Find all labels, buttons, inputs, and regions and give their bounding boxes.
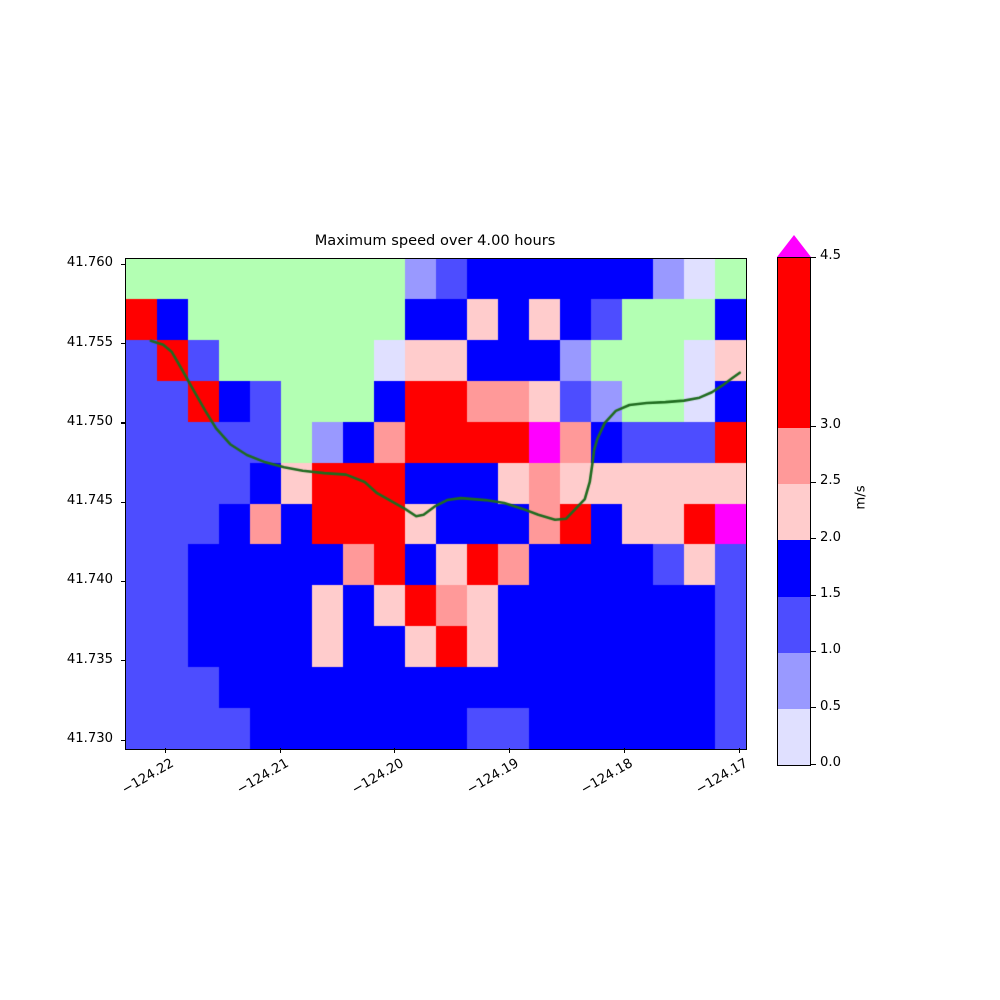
colorbar-tick-label: 2.5	[820, 473, 841, 488]
x-tick-label: −124.22	[95, 756, 177, 812]
x-tick-mark	[739, 748, 740, 753]
colorbar-tick-mark	[811, 764, 816, 765]
colorbar-segment	[778, 427, 810, 484]
x-tick-label: −124.21	[210, 756, 292, 812]
x-tick-mark	[624, 748, 625, 753]
colorbar-tick-mark	[811, 257, 816, 258]
colorbar-segment	[778, 652, 810, 709]
y-tick-mark	[121, 660, 126, 661]
y-tick-label: 41.760	[27, 255, 113, 270]
y-tick-mark	[121, 264, 126, 265]
heatmap-plot-area[interactable]	[125, 258, 747, 750]
colorbar-segment	[778, 709, 810, 766]
y-tick-label: 41.755	[27, 335, 113, 350]
y-tick-label: 41.740	[27, 572, 113, 587]
y-tick-label: 41.750	[27, 414, 113, 429]
colorbar-segment	[778, 540, 810, 597]
x-tick-mark	[509, 748, 510, 753]
x-tick-label: −124.19	[439, 756, 521, 812]
colorbar-segment	[778, 483, 810, 540]
colorbar-segment	[778, 596, 810, 653]
y-tick-mark	[121, 502, 126, 503]
colorbar-tick-mark	[811, 482, 816, 483]
page-title: Maximum speed over 4.00 hours	[125, 232, 745, 249]
colorbar-segment	[778, 258, 810, 428]
x-tick-mark	[280, 748, 281, 753]
colorbar-extend-arrow-icon	[777, 235, 811, 257]
x-tick-mark	[165, 748, 166, 753]
colorbar-tick-label: 1.5	[820, 586, 841, 601]
colorbar-tick-mark	[811, 651, 816, 652]
colorbar-tick-label: 0.0	[820, 755, 841, 770]
colorbar-tick-label: 1.0	[820, 642, 841, 657]
x-tick-label: −124.18	[554, 756, 636, 812]
colorbar-tick-mark	[811, 707, 816, 708]
colorbar-tick-mark	[811, 595, 816, 596]
colorbar[interactable]	[777, 235, 811, 788]
colorbar-axis-label: m/s	[854, 485, 869, 509]
y-tick-label: 41.745	[27, 493, 113, 508]
colorbar-tick-label: 3.0	[820, 417, 841, 432]
y-tick-mark	[121, 581, 126, 582]
drifter-track-line	[126, 259, 746, 749]
x-tick-label: −124.17	[669, 756, 751, 812]
y-tick-label: 41.735	[27, 652, 113, 667]
colorbar-tick-mark	[811, 426, 816, 427]
x-tick-label: −124.20	[324, 756, 406, 812]
y-tick-label: 41.730	[27, 731, 113, 746]
y-tick-mark	[121, 343, 126, 344]
colorbar-tick-label: 0.5	[820, 699, 841, 714]
colorbar-tick-label: 4.5	[820, 248, 841, 263]
figure-canvas: Maximum speed over 4.00 hours 41.73041.7…	[0, 0, 1000, 1000]
y-tick-mark	[121, 422, 126, 423]
colorbar-body	[777, 257, 811, 766]
colorbar-tick-mark	[811, 538, 816, 539]
y-tick-mark	[121, 740, 126, 741]
colorbar-tick-label: 2.0	[820, 530, 841, 545]
x-tick-mark	[394, 748, 395, 753]
